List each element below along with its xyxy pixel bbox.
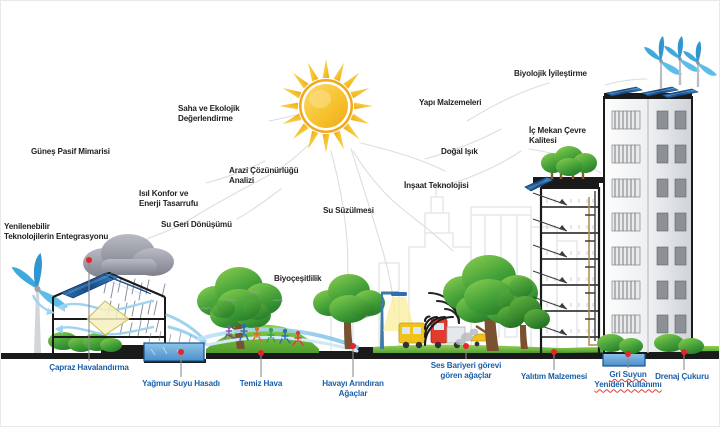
greywater-tank [603,353,645,366]
label-yenilenebilir-teknolojiler[interactable]: Yenilenebilir Teknolojilerin Entegrasyon… [4,222,108,243]
service-riser [585,191,595,341]
label-su-geri-donusumu[interactable]: Su Geri Dönüşümü [161,220,232,230]
label-ic-mekan-cevre-kalitesi[interactable]: İç Mekan Çevre Kalitesi [529,126,586,147]
label-insaat-teknolojisi[interactable]: İnşaat Teknolojisi [404,181,469,191]
label-saha-ve-ekolojik[interactable]: Saha ve Ekolojik Değerlendirme [178,104,239,125]
tower-wind-turbines [644,36,717,89]
label-isil-konfor[interactable]: Isıl Konfor ve Enerji Tasarrufu [139,189,198,210]
label-yapi-malzemeleri[interactable]: Yapı Malzemeleri [419,98,481,108]
high-rise-tower [604,93,692,353]
label-drenaj-cukuru[interactable]: Drenaj Çukuru [644,372,720,382]
label-arazi-cozunurlugu[interactable]: Arazi Çözünürlüğü Analizi [229,166,298,187]
rooftop-trees [541,146,597,179]
sun-icon [279,59,373,153]
infographic-canvas: Güneş Pasif Mimarisi Yenilenebilir Tekno… [0,0,720,427]
label-dogal-isik[interactable]: Doğal Işık [441,147,478,157]
anchor-marker-dots [86,257,687,357]
label-havayi-arindiran[interactable]: Havayı Arındıran Ağaçlar [301,379,405,400]
label-su-suzulmesi[interactable]: Su Süzülmesi [323,206,374,216]
label-gunes-pasif-mimarisi[interactable]: Güneş Pasif Mimarisi [31,147,110,157]
greywater-piping [589,197,605,353]
vehicle-bus [399,323,425,348]
label-capraz-havalandirma[interactable]: Çapraz Havalandırma [19,363,159,373]
label-biyocesitlilik[interactable]: Biyoçeşitlilik [274,274,321,284]
label-biyolojik-iyilestirme[interactable]: Biyolojik İyileştirme [514,69,587,79]
label-temiz-hava[interactable]: Temiz Hava [216,379,306,389]
